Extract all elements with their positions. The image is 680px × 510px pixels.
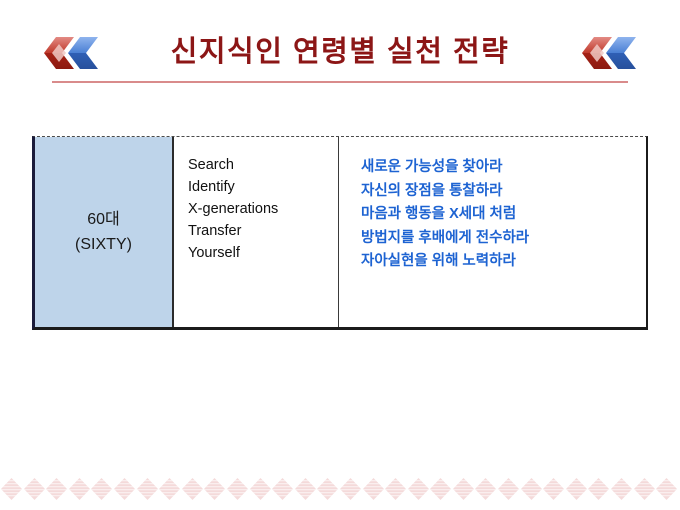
strategy-cell: 새로운 가능성을 찾아라 자신의 장점을 통찰하라 마음과 행동을 X세대 처럼…	[339, 137, 646, 327]
diamond-icon	[249, 477, 272, 501]
page-title: 신지식인 연령별 실천 전략	[0, 28, 680, 70]
diamond-icon	[90, 477, 113, 501]
list-item: 방법지를 후배에게 전수하라	[361, 227, 646, 251]
diamond-icon	[587, 477, 610, 501]
diamond-icon	[655, 477, 678, 501]
diamond-icon	[633, 477, 656, 501]
diamond-icon	[429, 477, 452, 501]
list-item: Identify	[188, 176, 338, 198]
diamond-icon	[542, 477, 565, 501]
list-item: 자신의 장점을 통찰하라	[361, 180, 646, 204]
diamond-icon	[452, 477, 475, 501]
diamond-icon	[136, 477, 159, 501]
diamond-icon	[158, 477, 181, 501]
list-item: 자아실현을 위해 노력하라	[361, 250, 646, 274]
diamond-icon	[407, 477, 430, 501]
list-item: X-generations	[188, 198, 338, 220]
diamond-icon	[271, 477, 294, 501]
age-group-sublabel: (SIXTY)	[75, 232, 132, 257]
diamond-icon	[339, 477, 362, 501]
list-item: Search	[188, 154, 338, 176]
diamond-icon	[497, 477, 520, 501]
age-group-cell: 60대 (SIXTY)	[35, 137, 174, 327]
diamond-icon	[384, 477, 407, 501]
slide-header: 신지식인 연령별 실천 전략	[0, 0, 680, 92]
age-group-label: 60대	[87, 207, 120, 232]
diamond-icon	[23, 477, 46, 501]
diamond-icon	[0, 477, 23, 501]
diamond-icon	[294, 477, 317, 501]
bottom-diamond-border	[0, 476, 680, 502]
diamond-icon	[520, 477, 543, 501]
list-item: 새로운 가능성을 찾아라	[361, 156, 646, 180]
list-item: 마음과 행동을 X세대 처럼	[361, 203, 646, 227]
diamond-icon	[316, 477, 339, 501]
diamond-icon	[113, 477, 136, 501]
diamond-icon	[362, 477, 385, 501]
acronym-cell: Search Identify X-generations Transfer Y…	[174, 137, 339, 327]
diamond-icon	[68, 477, 91, 501]
diamond-icon	[565, 477, 588, 501]
diamond-icon	[181, 477, 204, 501]
list-item: Transfer	[188, 220, 338, 242]
diamond-icon	[45, 477, 68, 501]
strategy-table: 60대 (SIXTY) Search Identify X-generation…	[32, 136, 648, 330]
diamond-icon	[226, 477, 249, 501]
list-item: Yourself	[188, 242, 338, 264]
diamond-icon	[474, 477, 497, 501]
diamond-icon	[610, 477, 633, 501]
title-divider	[52, 81, 628, 83]
diamond-icon	[203, 477, 226, 501]
